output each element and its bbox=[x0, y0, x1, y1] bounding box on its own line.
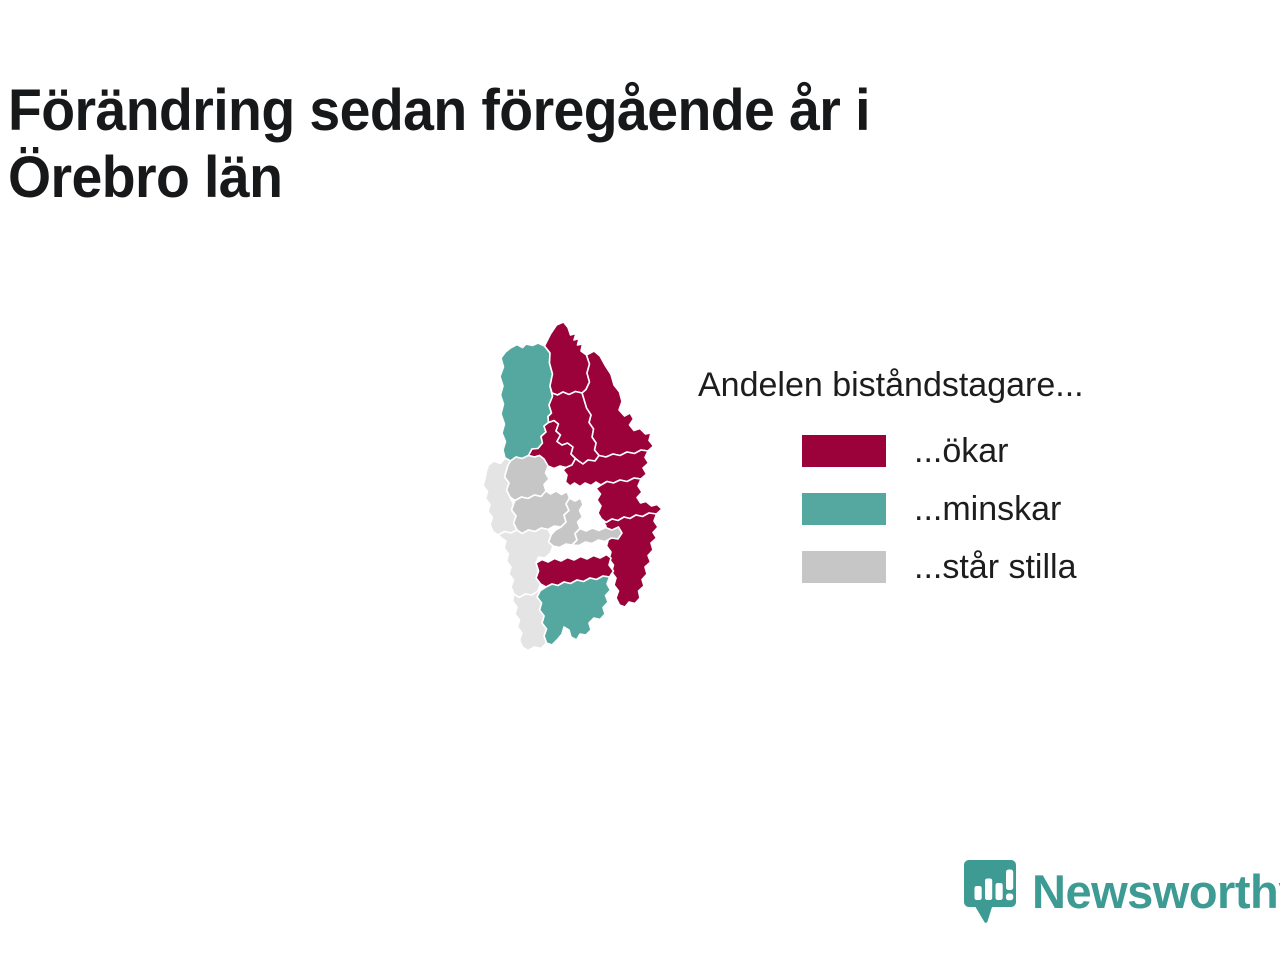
legend-item-decrease: ...minskar bbox=[698, 480, 1238, 538]
map-area-askersund bbox=[537, 576, 611, 645]
choropleth-map bbox=[470, 300, 690, 680]
legend-swatch-unchanged bbox=[802, 551, 886, 583]
newsworthy-logo: Newsworthy bbox=[962, 858, 1280, 924]
legend-label-unchanged: ...står stilla bbox=[914, 550, 1076, 584]
legend-title: Andelen biståndstagare... bbox=[698, 368, 1238, 402]
legend-label-increase: ...ökar bbox=[914, 434, 1008, 468]
legend-label-decrease: ...minskar bbox=[914, 492, 1061, 526]
map-area-ljusnarsberg bbox=[545, 322, 590, 395]
map-area-karlskoga bbox=[505, 456, 550, 501]
brand-name: Newsworthy bbox=[1032, 868, 1280, 915]
map-legend: Andelen biståndstagare... ...ökar ...min… bbox=[698, 368, 1238, 596]
chart-bubble-icon bbox=[962, 858, 1018, 924]
legend-swatch-decrease bbox=[802, 493, 886, 525]
legend-item-unchanged: ...står stilla bbox=[698, 538, 1238, 596]
legend-swatch-increase bbox=[802, 435, 886, 467]
legend-item-increase: ...ökar bbox=[698, 422, 1238, 480]
page-title: Förändring sedan föregående år i Örebro … bbox=[8, 77, 1078, 212]
